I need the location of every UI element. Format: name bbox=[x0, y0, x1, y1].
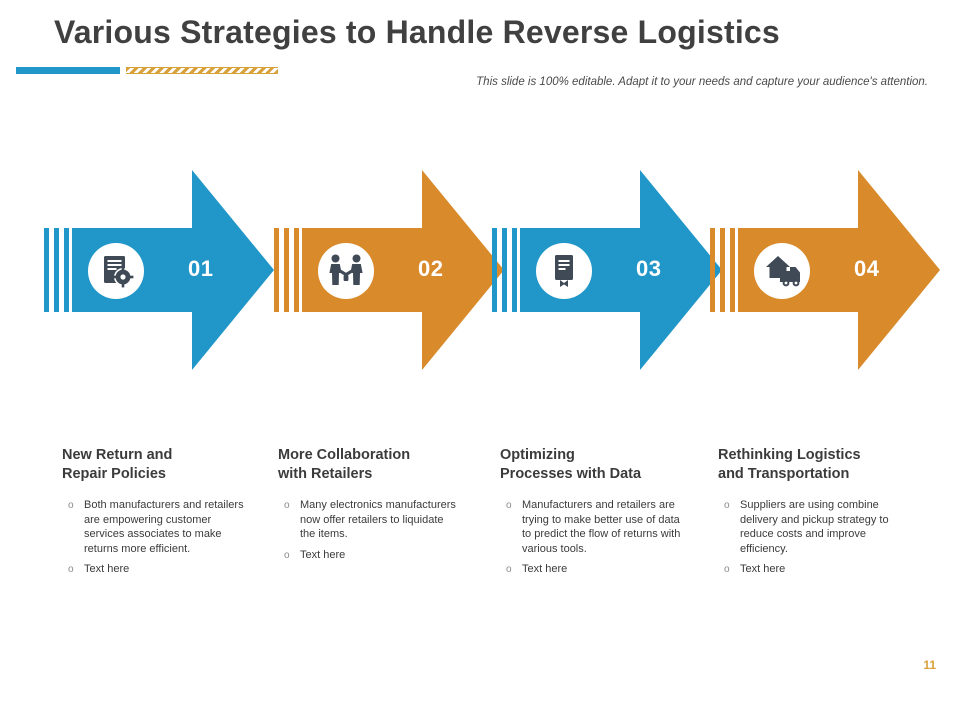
bullet-list: oManufacturers and retailers are trying … bbox=[500, 498, 682, 577]
bullet-list: oSuppliers are using combine delivery an… bbox=[718, 498, 900, 577]
bullet-marker: o bbox=[506, 563, 512, 578]
step-description-2: More Collaboration with Retailers oMany … bbox=[278, 446, 460, 568]
bullet-text: Text here bbox=[300, 549, 345, 561]
process-step-1[interactable]: 01 bbox=[44, 170, 274, 370]
document-certificate-icon bbox=[536, 243, 592, 299]
list-item: oText here bbox=[278, 548, 460, 563]
tick-mark bbox=[720, 228, 725, 312]
tick-mark bbox=[502, 228, 507, 312]
step-number: 04 bbox=[854, 256, 879, 282]
tick-mark bbox=[54, 228, 59, 312]
accent-rule-zigzag bbox=[126, 67, 278, 74]
tick-mark bbox=[274, 228, 279, 312]
bullet-list: oMany electronics manufacturers now offe… bbox=[278, 498, 460, 562]
bullet-text: Text here bbox=[740, 563, 785, 575]
list-item: oMany electronics manufacturers now offe… bbox=[278, 498, 460, 542]
tick-mark bbox=[512, 228, 517, 312]
list-item: oManufacturers and retailers are trying … bbox=[500, 498, 682, 556]
step-number: 03 bbox=[636, 256, 661, 282]
accent-rule-blue bbox=[16, 67, 120, 74]
list-item: oText here bbox=[500, 562, 682, 577]
tick-mark bbox=[284, 228, 289, 312]
tick-mark bbox=[64, 228, 69, 312]
bullet-text: Text here bbox=[84, 563, 129, 575]
tick-mark bbox=[730, 228, 735, 312]
tick-mark bbox=[294, 228, 299, 312]
bullet-marker: o bbox=[284, 499, 290, 514]
bullet-marker: o bbox=[724, 499, 730, 514]
bullet-marker: o bbox=[724, 563, 730, 578]
document-gear-icon bbox=[88, 243, 144, 299]
bullet-list: oBoth manufacturers and retailers are em… bbox=[62, 498, 244, 577]
bullet-text: Both manufacturers and retailers are emp… bbox=[84, 499, 244, 555]
list-item: oBoth manufacturers and retailers are em… bbox=[62, 498, 244, 556]
handshake-people-icon bbox=[318, 243, 374, 299]
tick-mark bbox=[710, 228, 715, 312]
bullet-marker: o bbox=[506, 499, 512, 514]
step-heading: More Collaboration with Retailers bbox=[278, 446, 460, 484]
bullet-text: Suppliers are using combine delivery and… bbox=[740, 499, 889, 555]
process-step-3[interactable]: 03 bbox=[492, 170, 722, 370]
step-number: 01 bbox=[188, 256, 213, 282]
step-description-4: Rethinking Logistics and Transportation … bbox=[718, 446, 900, 583]
bullet-marker: o bbox=[68, 499, 74, 514]
step-description-3: Optimizing Processes with Data oManufact… bbox=[500, 446, 682, 583]
bullet-text: Text here bbox=[522, 563, 567, 575]
bullet-marker: o bbox=[284, 549, 290, 564]
process-step-4[interactable]: 04 bbox=[710, 170, 940, 370]
tick-mark bbox=[44, 228, 49, 312]
list-item: oSuppliers are using combine delivery an… bbox=[718, 498, 900, 556]
list-item: oText here bbox=[718, 562, 900, 577]
bullet-marker: o bbox=[68, 563, 74, 578]
bullet-text: Manufacturers and retailers are trying t… bbox=[522, 499, 680, 555]
step-heading: New Return and Repair Policies bbox=[62, 446, 244, 484]
bullet-text: Many electronics manufacturers now offer… bbox=[300, 499, 456, 540]
step-number: 02 bbox=[418, 256, 443, 282]
process-arrow-band: 01 02 bbox=[0, 170, 960, 370]
step-heading: Optimizing Processes with Data bbox=[500, 446, 682, 484]
list-item: oText here bbox=[62, 562, 244, 577]
page-title: Various Strategies to Handle Reverse Log… bbox=[54, 14, 780, 51]
home-delivery-truck-icon bbox=[754, 243, 810, 299]
step-heading: Rethinking Logistics and Transportation bbox=[718, 446, 900, 484]
editable-note: This slide is 100% editable. Adapt it to… bbox=[476, 76, 928, 88]
page-number: 11 bbox=[923, 658, 936, 672]
process-step-2[interactable]: 02 bbox=[274, 170, 504, 370]
step-description-1: New Return and Repair Policies oBoth man… bbox=[62, 446, 244, 583]
tick-mark bbox=[492, 228, 497, 312]
